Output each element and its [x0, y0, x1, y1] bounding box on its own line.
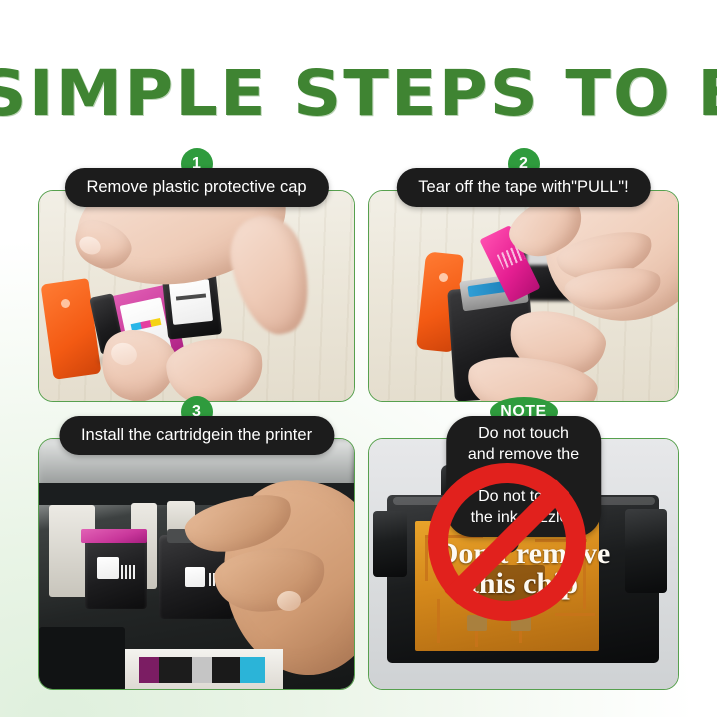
orange-cap-highlight: [439, 273, 448, 282]
step-card-3[interactable]: 3 Install the cartridgein the printer: [38, 438, 355, 690]
orange-cap-highlight: [61, 299, 70, 308]
inserting-cartridge-label: [185, 567, 205, 587]
installed-cartridge-magenta-top: [81, 529, 147, 543]
note-card[interactable]: Don't remove this chip NOTE Do not touch…: [368, 438, 679, 690]
black-cartridge-label: [169, 279, 213, 325]
step-3-photo: [38, 438, 355, 690]
step-1-label: Remove plastic protective cap: [64, 168, 328, 207]
printer-floor: [39, 627, 125, 690]
step-1-photo: [38, 190, 355, 402]
steps-grid: 1 Remove plastic protective cap: [38, 190, 679, 690]
step-card-2[interactable]: 2 Tear off the tape with"PULL"!: [368, 190, 679, 402]
installed-cartridge-label: [97, 557, 119, 579]
printed-sample-graphics: [139, 657, 265, 683]
page-title: SIMPLE STEPS TO EASILY: [0, 62, 717, 126]
step-2-photo: [368, 190, 679, 402]
prohibition-sign: [428, 463, 586, 621]
step-2-label: Tear off the tape with"PULL"!: [396, 168, 650, 207]
step-card-1[interactable]: 1 Remove plastic protective cap: [38, 190, 355, 402]
step-3-label: Install the cartridgein the printer: [59, 416, 334, 455]
installed-cartridge-barcode: [121, 565, 135, 579]
note-photo: Don't remove this chip: [368, 438, 679, 690]
infographic-page: SIMPLE STEPS TO EASILY: [0, 0, 717, 717]
